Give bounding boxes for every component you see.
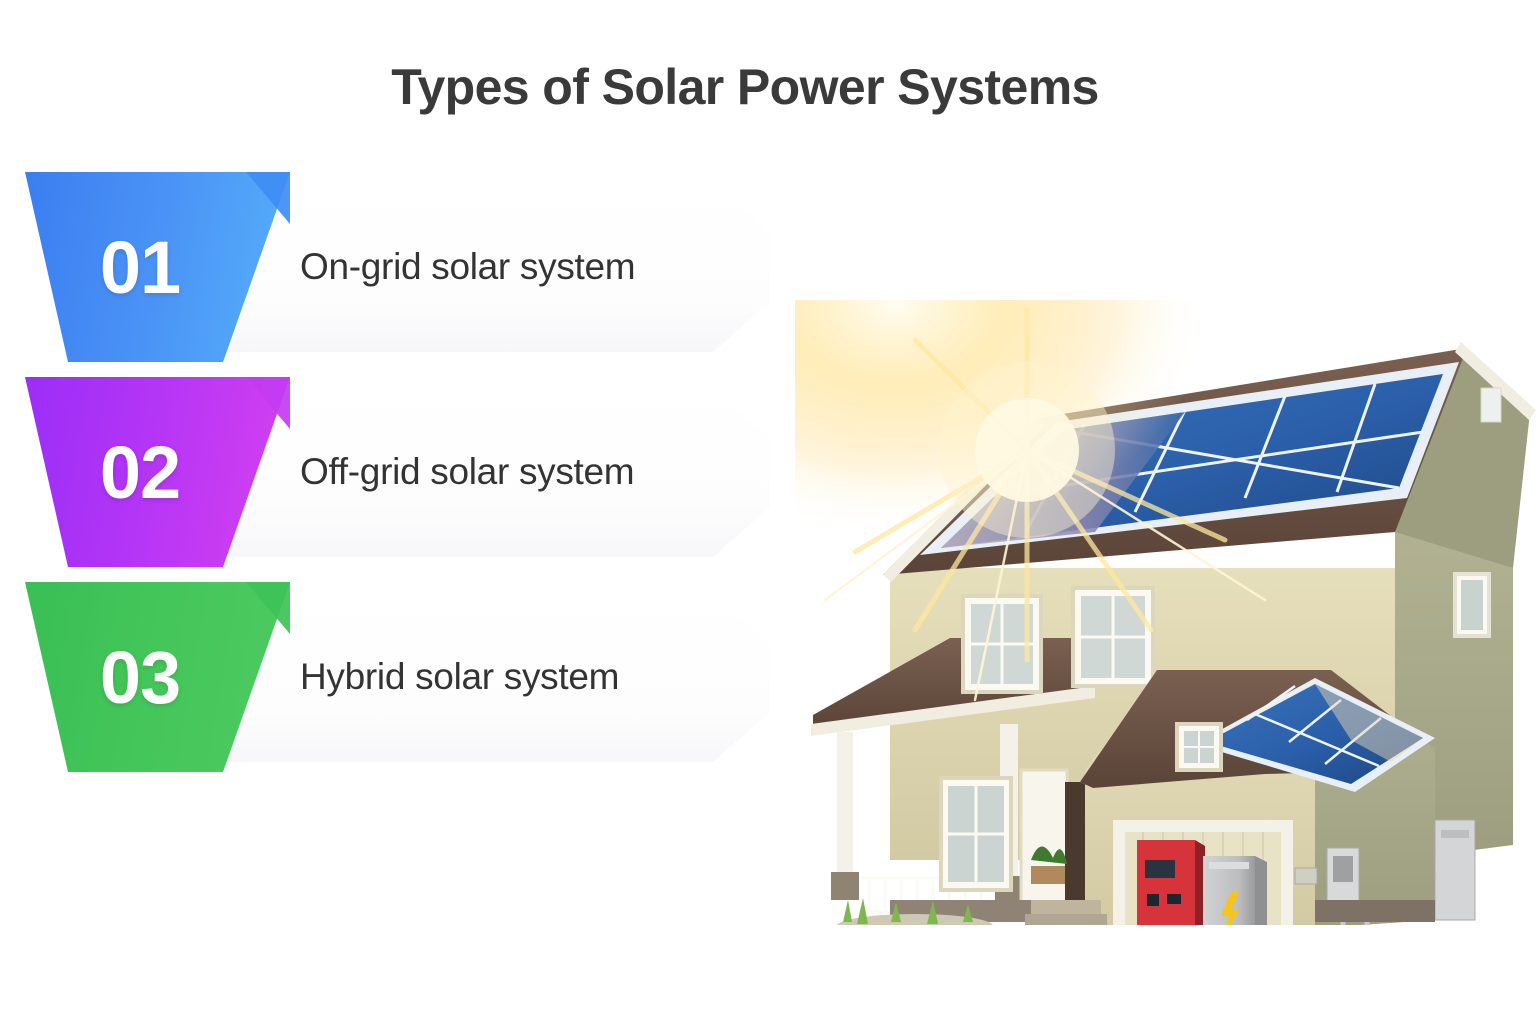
attic-window xyxy=(1481,388,1501,422)
solar-system-types-list: 01 On-grid solar system 02 Off-grid sola… xyxy=(0,172,800,787)
step-mid xyxy=(1025,914,1107,925)
step-top xyxy=(1031,900,1101,914)
front-door xyxy=(1021,770,1067,906)
battery-top-strip xyxy=(1209,862,1249,869)
disconnect-label xyxy=(1441,830,1469,838)
list-item-badge: 01 xyxy=(0,172,300,370)
wall-outlet xyxy=(1295,868,1317,884)
list-item-label: Off-grid solar system xyxy=(300,387,634,557)
meter-face xyxy=(1333,856,1353,882)
inverter-vent xyxy=(1145,860,1175,878)
list-item-badge: 03 xyxy=(0,582,300,780)
planter-box xyxy=(1031,866,1065,884)
solar-house-photo xyxy=(795,300,1536,925)
list-item-number: 01 xyxy=(25,172,255,362)
list-item-label: On-grid solar system xyxy=(300,182,635,352)
column-base-left xyxy=(831,872,859,900)
list-item-badge: 02 xyxy=(0,377,300,575)
list-item[interactable]: 02 Off-grid solar system xyxy=(0,377,800,582)
list-item-label: Hybrid solar system xyxy=(300,592,619,762)
battery-side xyxy=(1255,856,1267,925)
inverter-display xyxy=(1167,894,1181,904)
list-item-number: 02 xyxy=(25,377,255,567)
list-item-number: 03 xyxy=(25,582,255,772)
page-title: Types of Solar Power Systems xyxy=(0,58,1490,116)
list-item[interactable]: 03 Hybrid solar system xyxy=(0,582,800,787)
window-glass xyxy=(1461,580,1483,630)
foundation-side xyxy=(1315,900,1435,922)
porch-column-left xyxy=(837,732,853,882)
inverter-box[interactable] xyxy=(1137,840,1195,925)
list-item[interactable]: 01 On-grid solar system xyxy=(0,172,800,377)
inverter-button[interactable] xyxy=(1147,894,1159,906)
